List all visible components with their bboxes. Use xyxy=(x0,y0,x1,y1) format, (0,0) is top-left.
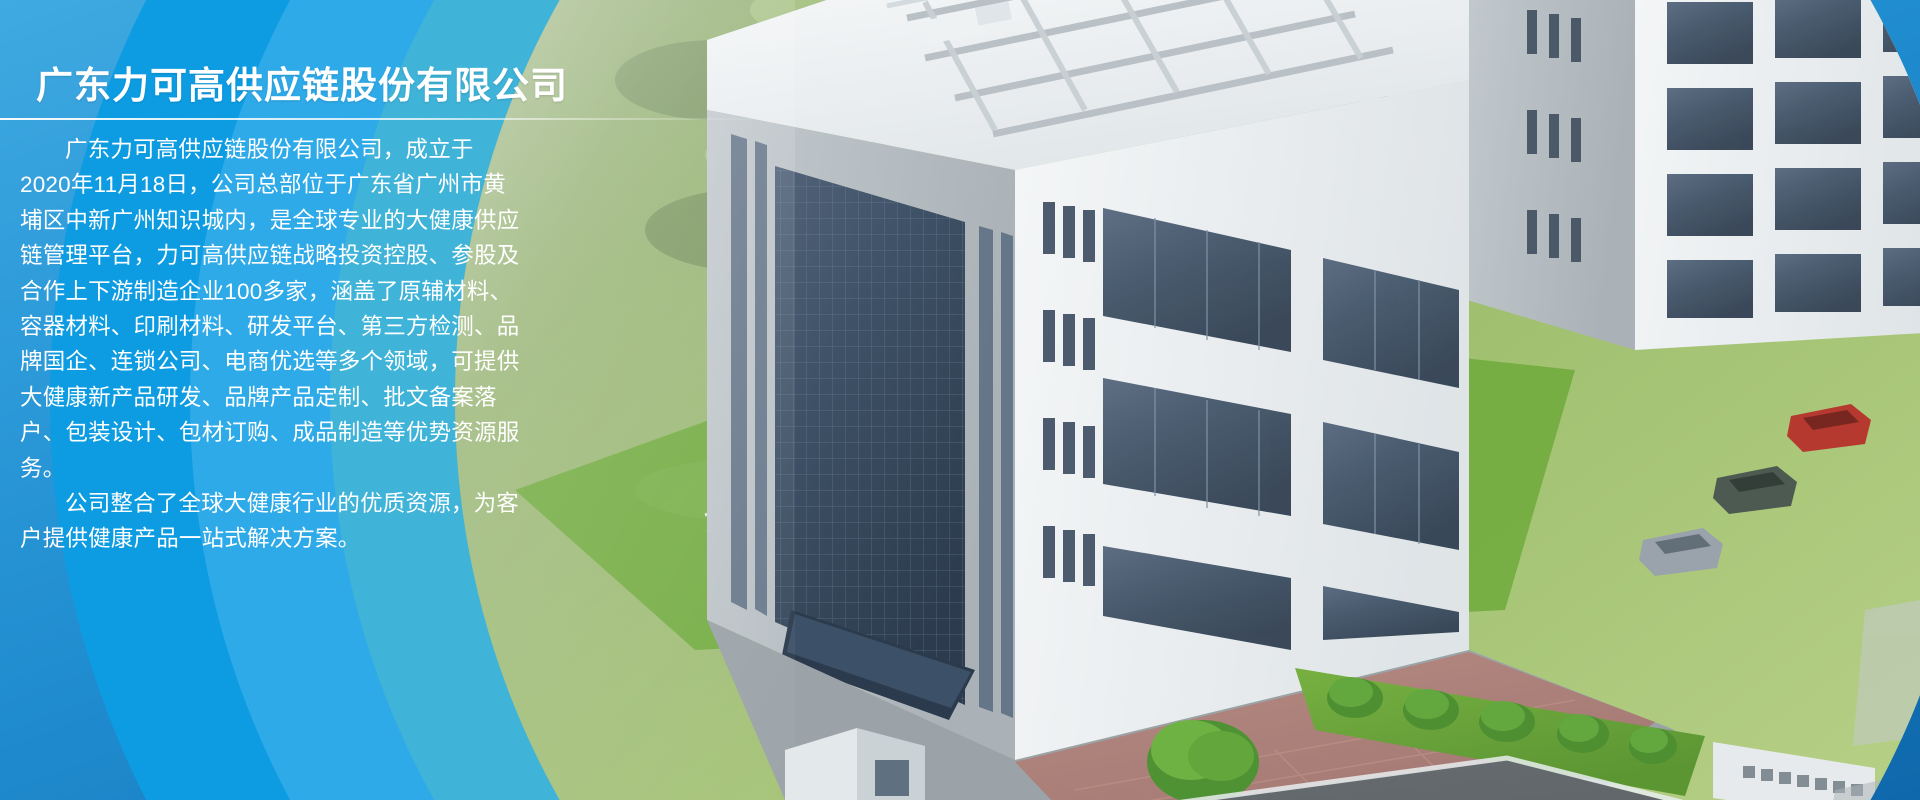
page-title: 广东力可高供应链股份有限公司 xyxy=(36,55,568,109)
campus-photo-mask xyxy=(455,0,1920,800)
title-divider xyxy=(0,118,770,120)
company-description: 广东力可高供应链股份有限公司，成立于2020年11月18日，公司总部位于广东省广… xyxy=(20,132,520,557)
campus-aerial-photo xyxy=(455,0,1920,800)
intro-text-column: 广东力可高供应链股份有限公司 广东力可高供应链股份有限公司，成立于2020年11… xyxy=(0,0,560,800)
description-paragraph-2: 公司整合了全球大健康行业的优质资源，为客户提供健康产品一站式解决方案。 xyxy=(20,486,520,557)
banner-canvas: 广东力可高供应链股份有限公司 广东力可高供应链股份有限公司，成立于2020年11… xyxy=(0,0,1920,800)
description-paragraph-1: 广东力可高供应链股份有限公司，成立于2020年11月18日，公司总部位于广东省广… xyxy=(20,132,520,486)
